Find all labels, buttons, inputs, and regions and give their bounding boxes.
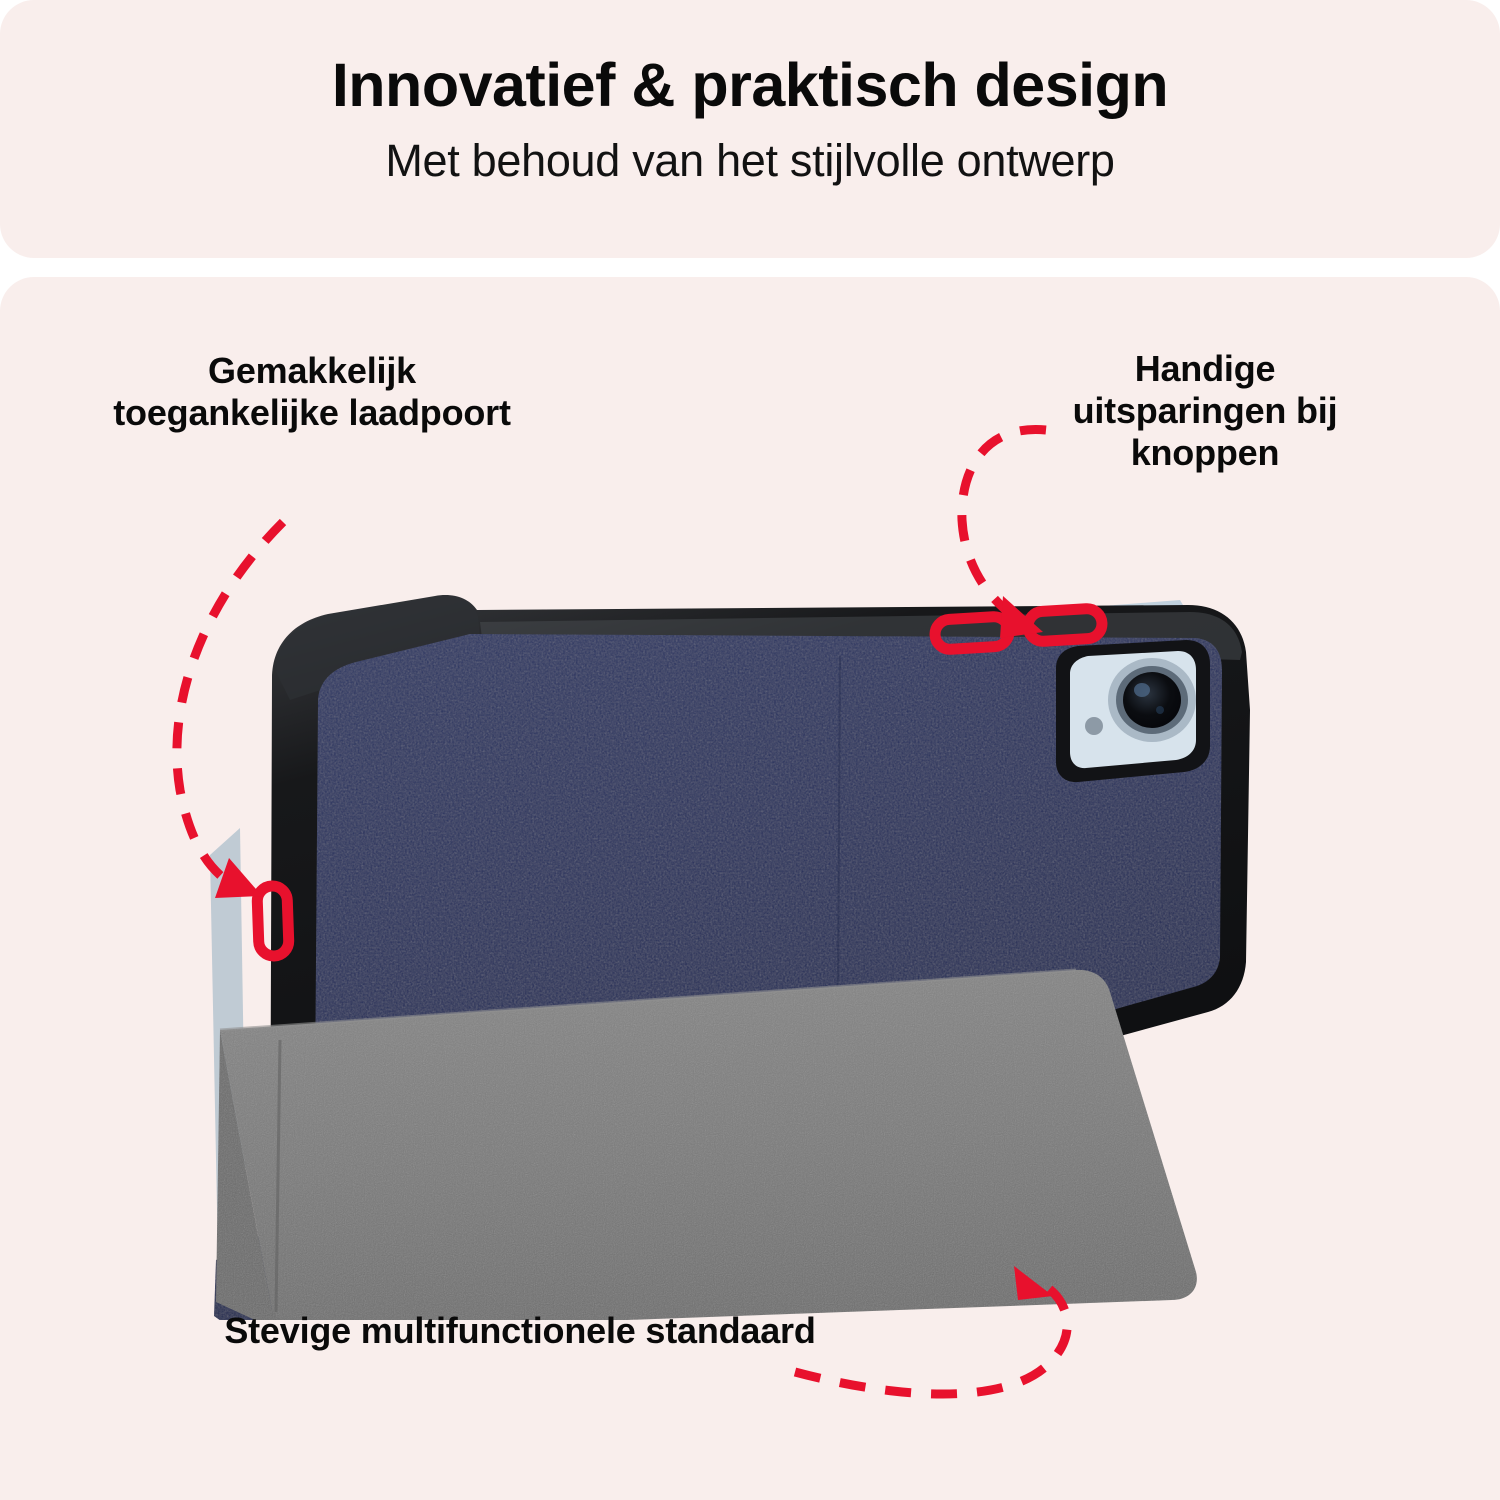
arrowhead-button-cutouts — [1000, 596, 1043, 638]
infographic-stage: Innovatief & praktisch design Met behoud… — [0, 0, 1500, 1500]
arrowhead-stand — [1014, 1266, 1053, 1300]
arrow-to-stand — [795, 1266, 1067, 1394]
arrow-to-charging-port — [177, 522, 283, 898]
callout-arrows — [0, 0, 1500, 1500]
arrowhead-charging-port — [215, 858, 262, 898]
arrow-to-button-cutouts — [962, 429, 1046, 638]
